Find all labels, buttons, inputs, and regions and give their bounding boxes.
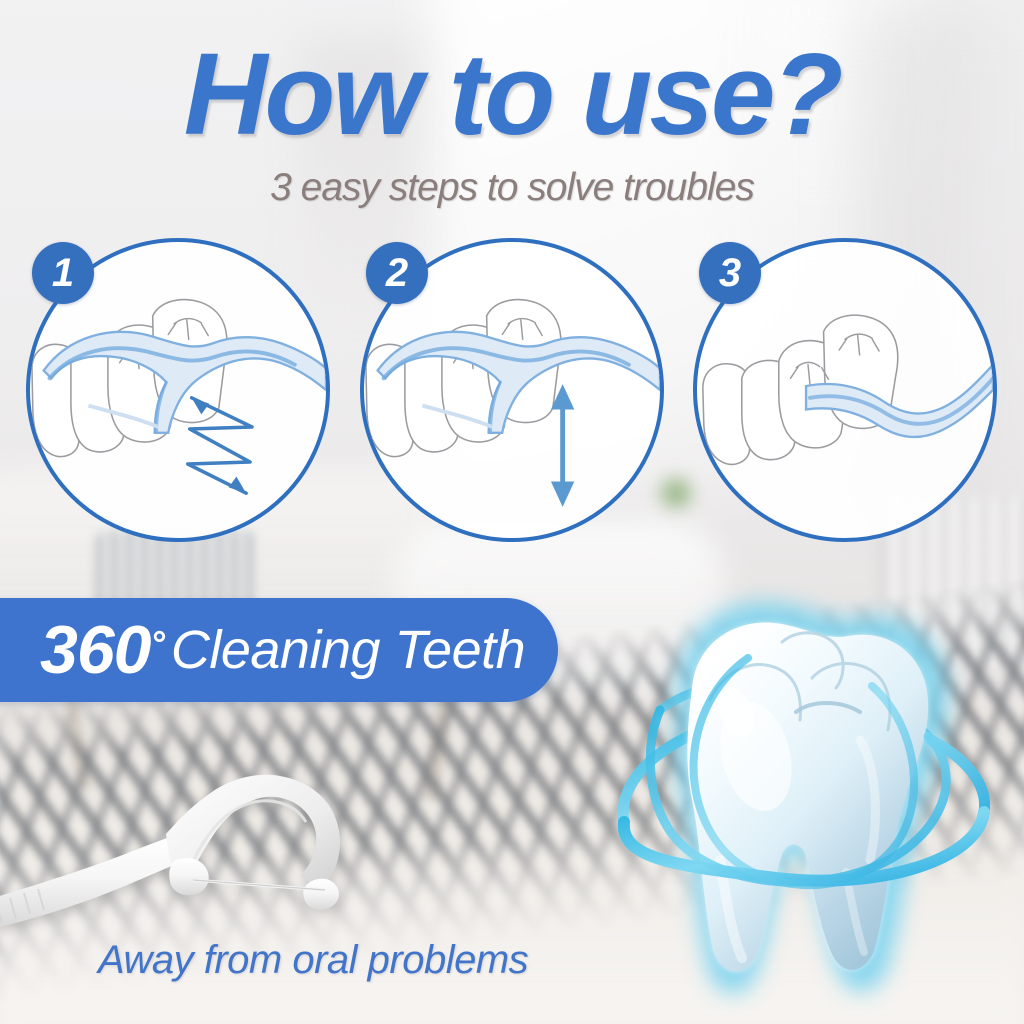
step-badge-3: 3: [699, 242, 761, 304]
molar-tooth-with-orbit-rings: [560, 560, 1024, 1024]
page-subtitle: 3 easy steps to solve troubles: [0, 166, 1024, 210]
banner-degrees-number: 360: [40, 616, 150, 684]
step-badge-1: 1: [32, 242, 94, 304]
dental-floss-pick: [0, 700, 420, 950]
vertical-double-arrow-icon: [551, 384, 574, 507]
banner-degree-symbol: °: [150, 623, 164, 665]
step-1: 1: [26, 238, 330, 542]
page-title: How to use?: [0, 36, 1024, 152]
step-3: 3: [693, 238, 997, 542]
infographic-poster: How to use? 3 easy steps to solve troubl…: [0, 0, 1024, 1024]
banner-label: Cleaning Teeth: [171, 623, 525, 677]
step-2: 2: [360, 238, 664, 542]
step-badge-2: 2: [366, 242, 428, 304]
steps-row: 1: [0, 238, 1024, 548]
tagline: Away from oral problems: [98, 938, 528, 983]
cleaning-banner: 360 ° Cleaning Teeth: [0, 598, 558, 702]
